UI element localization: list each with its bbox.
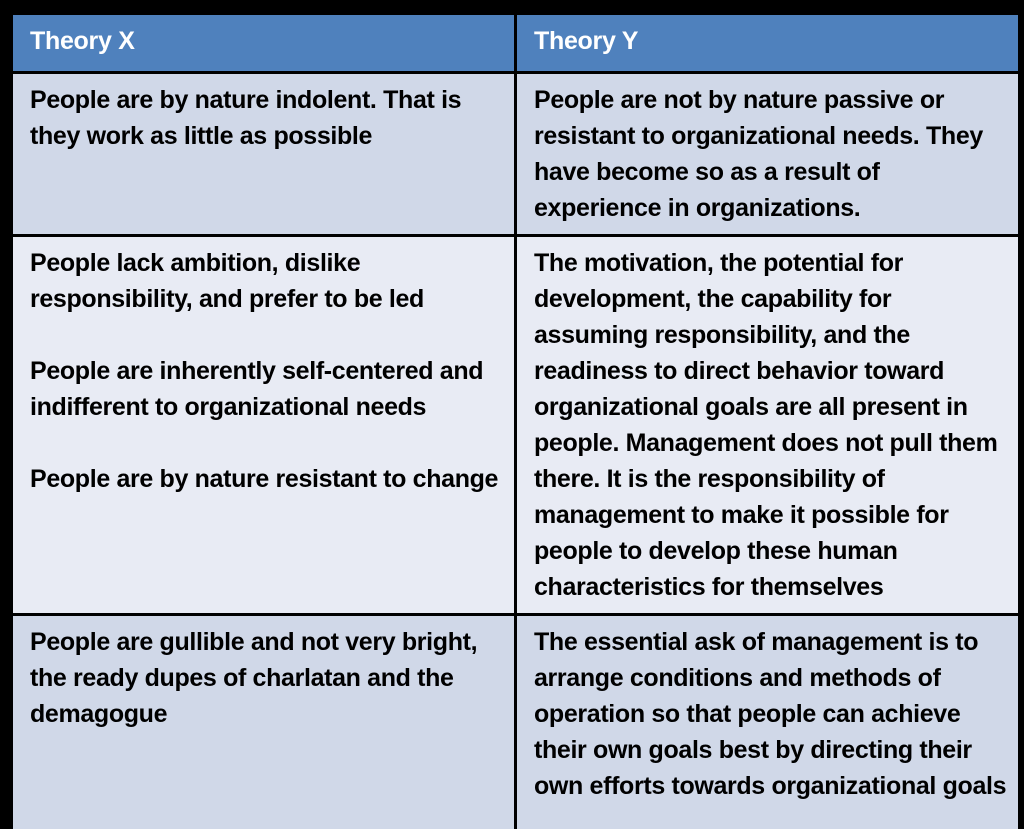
cell-paragraph: People are by nature indolent. That is t… [30, 82, 504, 154]
cell-paragraph: The essential ask of management is to ar… [534, 624, 1008, 804]
theory-x-y-comparison-table: Theory X Theory Y People are by nature i… [10, 12, 1021, 829]
cell-paragraph: People are inherently self-centered and … [30, 353, 504, 425]
table-row: People lack ambition, dislike responsibi… [13, 237, 1018, 613]
table-row: People are by nature indolent. That is t… [13, 74, 1018, 234]
table-header-row: Theory X Theory Y [13, 15, 1018, 71]
table-cell-theory-x: People are by nature indolent. That is t… [13, 74, 514, 234]
table-header: Theory X Theory Y [13, 15, 1018, 71]
cell-paragraph: People lack ambition, dislike responsibi… [30, 245, 504, 317]
table-cell-theory-x: People lack ambition, dislike responsibi… [13, 237, 514, 613]
cell-paragraph: People are not by nature passive or resi… [534, 82, 1008, 226]
cell-paragraph: People are by nature resistant to change [30, 461, 504, 497]
column-header-theory-y: Theory Y [517, 15, 1018, 71]
table-body: People are by nature indolent. That is t… [13, 74, 1018, 829]
table-row: People are gullible and not very bright,… [13, 616, 1018, 829]
table-cell-theory-y: The motivation, the potential for develo… [517, 237, 1018, 613]
slide-canvas: Theory X Theory Y People are by nature i… [0, 0, 1024, 829]
table-cell-theory-y: People are not by nature passive or resi… [517, 74, 1018, 234]
column-header-theory-x: Theory X [13, 15, 514, 71]
table-cell-theory-y: The essential ask of management is to ar… [517, 616, 1018, 829]
cell-paragraph: The motivation, the potential for develo… [534, 245, 1008, 605]
cell-paragraph: People are gullible and not very bright,… [30, 624, 504, 732]
table-cell-theory-x: People are gullible and not very bright,… [13, 616, 514, 829]
